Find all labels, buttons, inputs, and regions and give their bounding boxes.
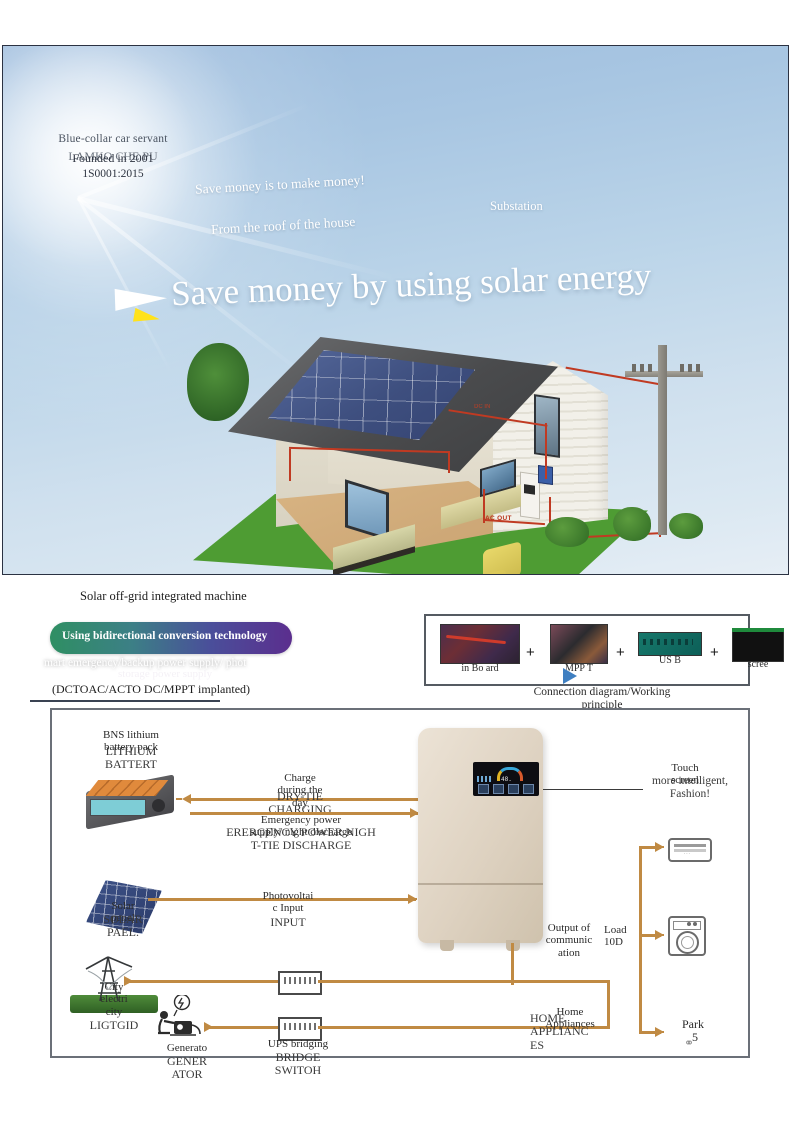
- discharge-label-overlay: ERERGENCY POWER NIGH T-TIE DISCHARGE: [206, 826, 396, 853]
- breaker-icon: [278, 971, 322, 995]
- insulator-icon: [696, 364, 700, 372]
- inverter-lcd-screen[interactable]: 48.: [473, 762, 539, 796]
- battery-overlay-line-1: LITHIUM: [72, 745, 190, 758]
- logo-tagline: Blue-collar car servant: [33, 132, 193, 146]
- charge-line-1: Charge: [235, 772, 365, 784]
- play-triangle-icon: [563, 668, 577, 684]
- generator-svg: [150, 995, 210, 1041]
- dc-wire: [545, 423, 547, 479]
- component-mppt: MPP T: [550, 624, 608, 664]
- park-label: Park 5: [682, 1018, 726, 1045]
- white-arrow-icon: [115, 287, 168, 311]
- touch-line-3: more intelligent,: [630, 775, 750, 788]
- tagline-from-roof: From the roof of the house: [211, 214, 356, 238]
- technology-banner-text: Using bidirectional conversion technolog…: [62, 630, 267, 642]
- insulator-icon: [680, 364, 684, 372]
- component-label: US B: [647, 656, 693, 667]
- comm-line-2: communic: [530, 934, 608, 946]
- plus-icon: +: [710, 644, 719, 661]
- company-logo: Blue-collar car servant LAMKO CHE PU Fou…: [33, 132, 193, 194]
- plug-icon: [655, 930, 664, 940]
- component-composition-box: in Bo ard + MPP T + US B + scree: [424, 614, 750, 686]
- plug-icon: [655, 1027, 664, 1037]
- communication-output-label: Output of communic ation: [530, 922, 608, 959]
- load-label: Load 10D: [604, 924, 648, 949]
- usb-board-icon: [638, 632, 702, 656]
- bush: [669, 513, 703, 539]
- solar-panel-label-overlay: SOLAR PAEL.: [68, 913, 178, 940]
- ups-label-overlay: BRIDGE SWITOH: [244, 1051, 352, 1078]
- touch-callout-line: [543, 789, 643, 790]
- divider-rule: [30, 700, 220, 702]
- touch-line-1: Touch: [630, 762, 740, 774]
- product-title: Solar off-grid integrated machine: [80, 589, 247, 604]
- home-overlay-1: HOME: [530, 1012, 610, 1025]
- generator-icon: [150, 995, 210, 1043]
- park-line-1: Park: [682, 1018, 726, 1031]
- comm-wire: [511, 943, 514, 985]
- comm-line-3: ation: [530, 947, 608, 959]
- home-overlay-2: APPLIANC: [530, 1025, 610, 1038]
- plus-icon: +: [616, 644, 625, 661]
- generator-overlay-2: ATOR: [148, 1068, 226, 1081]
- page-headline: Save money by using solar energy: [170, 256, 652, 314]
- utility-pole: [658, 345, 667, 535]
- component-usb: US B: [638, 632, 702, 656]
- solar-line-1: Solar: [68, 900, 178, 912]
- tree-icon: [187, 343, 249, 421]
- touchscreen-label-overlay: more intelligent, Fashion!: [630, 775, 750, 801]
- load-line-1: Load: [604, 924, 648, 936]
- plus-icon: +: [526, 644, 535, 661]
- yellow-arrow-icon: [133, 308, 161, 326]
- generator-label-overlay: GENER ATOR: [148, 1055, 226, 1082]
- battery-label-overlay: LITHIUM BATTERT: [72, 745, 190, 772]
- caption-line-1: Connection diagram/Working: [502, 686, 702, 699]
- logo-certification: 1S0001:2015: [33, 167, 193, 181]
- inverter-unit: 48.: [418, 728, 543, 943]
- generator-label: Generato: [148, 1042, 226, 1054]
- component-label: in Bo ard: [457, 664, 503, 675]
- comm-line-1: Output of: [530, 922, 608, 934]
- lithium-battery-icon: [80, 775, 180, 827]
- banner-subline-3: (DCTOAC/ACTO DC/MPPT implanted): [52, 682, 250, 697]
- insulator-icon: [640, 364, 644, 372]
- solar-overlay-2: PAEL.: [68, 926, 178, 939]
- insulator-icon: [632, 364, 636, 372]
- ups-overlay-2: SWITOH: [244, 1064, 352, 1077]
- battery-overlay-line-2: BATTERT: [72, 758, 190, 771]
- screen-icon: [732, 628, 784, 662]
- insulator-icon: [688, 364, 692, 372]
- ac-wire: [289, 449, 291, 481]
- mppt-board-icon: [550, 624, 608, 664]
- air-conditioner-icon: ···: [668, 838, 712, 862]
- pv-input-overlay: INPUT: [228, 916, 348, 929]
- plug-icon: [124, 976, 133, 986]
- component-label: scree: [735, 660, 781, 671]
- insulator-icon: [648, 364, 652, 372]
- banner-subline-2: storage power supply: [118, 668, 212, 680]
- plug-icon: [655, 842, 664, 852]
- charge-overlay-1: DRY-TIE: [235, 790, 365, 803]
- wall-inverter: [520, 472, 540, 520]
- component-screen: scree: [732, 628, 784, 662]
- technology-banner: Using bidirectional conversion technolog…: [50, 622, 292, 654]
- plug-icon: [408, 894, 417, 904]
- home-appliances-overlay: HOME APPLIANC ES: [530, 1012, 610, 1052]
- generator-line-1: Generato: [148, 1042, 226, 1054]
- pv-overlay-1: INPUT: [228, 916, 348, 929]
- ups-line-1: UPS bridging: [244, 1038, 352, 1050]
- substation-label: Substation: [490, 199, 543, 214]
- ac-out-label: AC OUT: [485, 515, 512, 522]
- generator-overlay-1: GENER: [148, 1055, 226, 1068]
- bush: [613, 507, 651, 541]
- tagline-save-money: Save money is to make money!: [195, 172, 365, 197]
- sun-ray: [77, 197, 174, 375]
- touch-line-4: Fashion!: [630, 788, 750, 801]
- solar-overlay-1: SOLAR: [68, 913, 178, 926]
- grid-wire-right: [318, 980, 608, 983]
- bush: [545, 517, 589, 547]
- ac-wire: [448, 451, 450, 473]
- load-line-2: 10D: [604, 936, 648, 948]
- pv-input-label: Photovoltai c Input: [228, 890, 348, 915]
- plug-icon: [204, 1022, 213, 1032]
- home-overlay-3: ES: [530, 1039, 610, 1052]
- ups-overlay-1: BRIDGE: [244, 1051, 352, 1064]
- battery-label-line-1: BNS lithium: [72, 729, 190, 741]
- logo-founded: Founded in 2001: [33, 151, 193, 166]
- washing-machine-icon: [668, 916, 706, 956]
- main-board-icon: [440, 624, 520, 664]
- pv-line-1: Photovoltai: [228, 890, 348, 902]
- park-line-2: 5: [682, 1031, 726, 1044]
- hero-banner: Blue-collar car servant LAMKO CHE PU Fou…: [2, 45, 789, 575]
- lcd-value: 48.: [501, 776, 512, 783]
- pv-line-2: c Input: [228, 902, 348, 914]
- grid-wire-left: [128, 980, 278, 983]
- discharge-overlay-2: T-TIE DISCHARGE: [206, 839, 396, 852]
- dc-in-label: DC IN: [474, 404, 490, 410]
- house-illustration: AC OUT DC IN: [193, 331, 783, 575]
- ups-wire-left: [208, 1026, 278, 1029]
- discharge-overlay-1: ERERGENCY POWER NIGH: [206, 826, 396, 839]
- ups-label: UPS bridging: [244, 1038, 352, 1050]
- component-main-board: in Bo ard: [440, 624, 520, 664]
- plug-icon: [182, 794, 191, 804]
